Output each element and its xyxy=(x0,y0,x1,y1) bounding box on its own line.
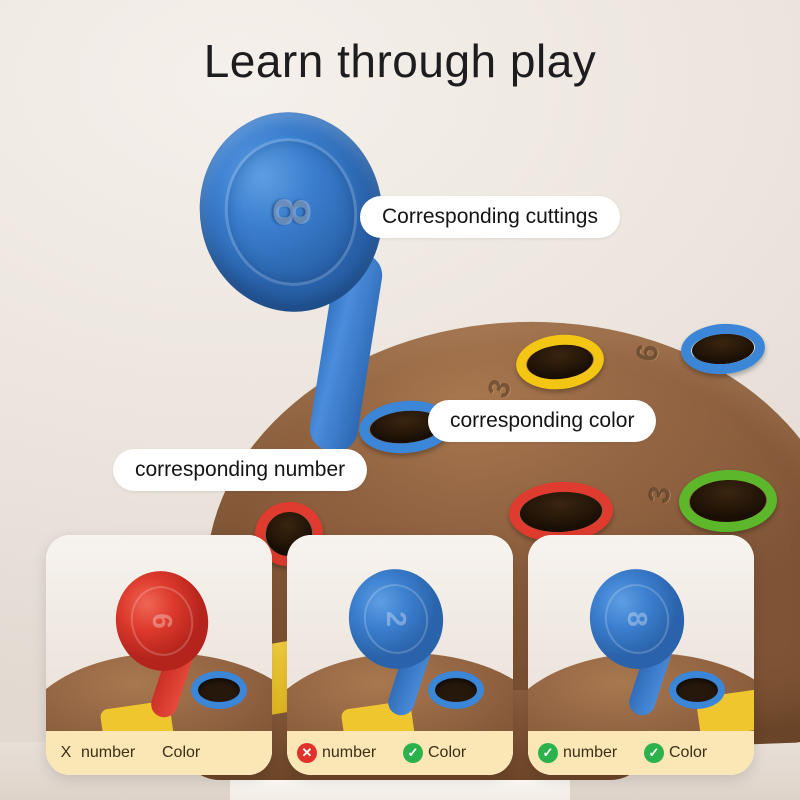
main-peg[interactable]: 8 xyxy=(196,112,436,442)
check-icon: ✓ xyxy=(644,743,664,763)
check-icon: ✓ xyxy=(403,743,423,763)
page-title: Learn through play xyxy=(0,34,800,88)
mini-hole-blue xyxy=(198,677,240,703)
card-photo: 8 xyxy=(528,535,754,733)
footer-number: X number xyxy=(56,743,156,763)
hole-red-upper[interactable] xyxy=(519,490,603,534)
mini-hole-rim xyxy=(191,671,247,709)
callout-color: corresponding color xyxy=(428,400,656,442)
card-photo: 2 xyxy=(287,535,513,733)
mini-hole-blue xyxy=(435,677,477,703)
footer-color-label: Color xyxy=(162,744,200,762)
check-icon: ✓ xyxy=(538,743,558,763)
hole-green[interactable] xyxy=(689,479,766,524)
mini-hole-blue xyxy=(676,677,718,703)
card-footer: ✓ number ✓ Color xyxy=(528,731,754,775)
cross-icon: X xyxy=(56,743,76,763)
card-correct[interactable]: 8 ✓ number ✓ Color xyxy=(528,535,754,775)
mini-peg-digit: 2 xyxy=(380,611,412,627)
callout-cuttings: Corresponding cuttings xyxy=(360,196,620,238)
footer-number-label: number xyxy=(563,744,617,762)
footer-number: ✕ number xyxy=(297,743,397,763)
mini-peg-digit: 8 xyxy=(621,611,653,627)
card-footer: ✕ number ✓ Color xyxy=(287,731,513,775)
card-partial[interactable]: 2 ✕ number ✓ Color xyxy=(287,535,513,775)
footer-number-label: number xyxy=(81,744,135,762)
card-footer: X number Color xyxy=(46,731,272,775)
footer-number: ✓ number xyxy=(538,743,638,763)
footer-color: ✓ Color xyxy=(403,743,503,763)
footer-color: ✓ Color xyxy=(644,743,744,763)
card-photo: 6 xyxy=(46,535,272,733)
product-infographic: Learn through play 3 6 3 8 xyxy=(0,0,800,800)
footer-color-label: Color xyxy=(428,744,466,762)
footer-number-label: number xyxy=(322,744,376,762)
mini-hole-rim xyxy=(428,671,484,709)
footer-color: Color xyxy=(162,744,262,762)
card-wrong[interactable]: 6 X number Color xyxy=(46,535,272,775)
footer-color-label: Color xyxy=(669,744,707,762)
hole-yellow[interactable] xyxy=(525,342,594,383)
cross-icon: ✕ xyxy=(297,743,317,763)
mini-hole-rim xyxy=(669,671,725,709)
mini-peg-digit: 6 xyxy=(146,613,178,629)
callout-number: corresponding number xyxy=(113,449,367,491)
hole-blue-right[interactable] xyxy=(691,332,755,366)
